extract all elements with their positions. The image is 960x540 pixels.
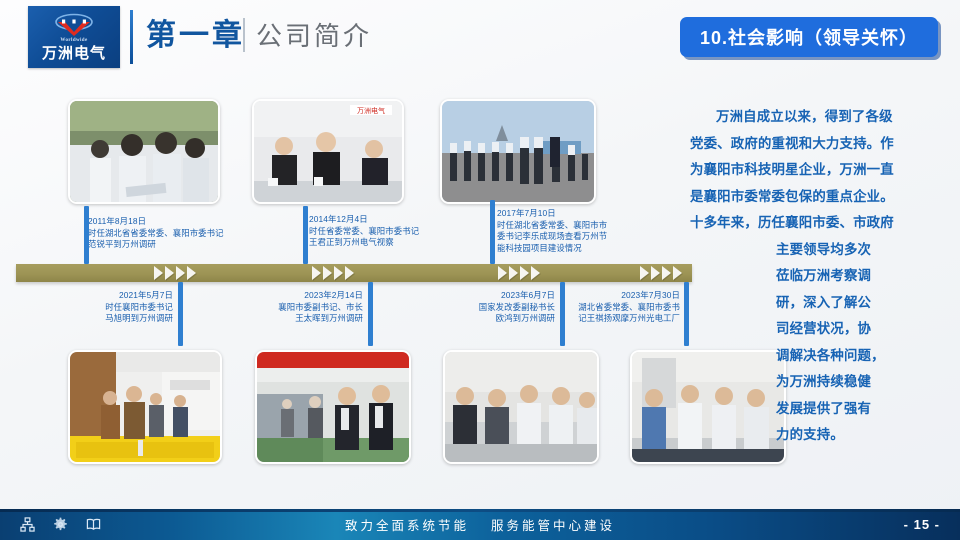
paragraph-line-11: 为万洲持续稳健	[690, 369, 952, 396]
gear-icon[interactable]	[53, 517, 68, 532]
chevron-right-icon	[323, 266, 332, 280]
timeline-stem-top-3	[490, 200, 495, 264]
chevron-right-icon	[187, 266, 196, 280]
chevron-right-icon	[673, 266, 682, 280]
chevron-right-icon	[165, 266, 174, 280]
timeline-stem-top-2	[303, 206, 308, 264]
timeline-bar	[16, 264, 692, 282]
chevron-right-icon	[509, 266, 518, 280]
event-photo-2014-12-04: 万洲电气	[252, 99, 404, 204]
timeline-stem-top-1	[84, 206, 89, 264]
caption-date: 2023年2月14日	[230, 290, 363, 302]
event-photo-2023-06-07	[443, 350, 599, 464]
caption-line2: 时任湖北省委常委、襄阳市市	[497, 220, 647, 232]
chevron-group	[154, 266, 200, 280]
timeline-stem-bottom-4	[684, 282, 689, 346]
paragraph-line-5: 十多年来，历任襄阳市委、市政府	[690, 210, 952, 237]
caption-date: 2014年12月4日	[309, 214, 499, 226]
timeline-stem-bottom-1	[178, 282, 183, 346]
description-paragraph: 万洲自成立以来，得到了各级 党委、政府的重视和大力支持。作 为襄阳市科技明星企业…	[690, 104, 952, 449]
footer-slogan-left: 致力全面系统节能	[345, 515, 469, 534]
caption-line3: 记王祺扬观摩万州光电工厂	[560, 313, 680, 325]
caption-line3: 委书记李乐成现场查看万州节	[497, 231, 647, 243]
event-photo-2023-02-14	[255, 350, 411, 464]
paragraph-line-9: 司经营状况，协	[690, 316, 952, 343]
paragraph-line-7: 莅临万洲考察调	[690, 263, 952, 290]
paragraph-line-13: 力的支持。	[690, 422, 952, 449]
caption-line2: 国家发改委副秘书长	[422, 302, 555, 314]
caption-line2: 时任湖北省省委常委、襄阳市委书记	[88, 228, 288, 240]
chevron-group	[498, 266, 544, 280]
chevron-group	[640, 266, 686, 280]
paragraph-line-6: 主要领导均多次	[690, 237, 952, 264]
page-number: - 15 -	[904, 509, 940, 540]
paragraph-line-10: 调解决各种问题，	[690, 343, 952, 370]
slide-canvas: Worldwide 万洲电气 第一章 公司简介 10.社会影响（领导关怀）	[0, 0, 960, 540]
event-caption-2023-02-14: 2023年2月14日 襄阳市委副书记、市长 王太晖到万州调研	[230, 290, 363, 325]
chapter-label: 第一章	[146, 16, 245, 56]
event-caption-2023-07-30: 2023年7月30日 湖北省委常委、襄阳市委书 记王祺扬观摩万州光电工厂	[560, 290, 680, 325]
chevron-right-icon	[640, 266, 649, 280]
caption-line4: 能科技园项目建设情况	[497, 243, 647, 255]
chevron-right-icon	[498, 266, 507, 280]
caption-line2: 时任省委常委、襄阳市委书记	[309, 226, 499, 238]
chevron-right-icon	[531, 266, 540, 280]
caption-line3: 王太晖到万州调研	[230, 313, 363, 325]
event-caption-2023-06-07: 2023年6月7日 国家发改委副秘书长 欧鸿到万州调研	[422, 290, 555, 325]
section-title-badge: 10.社会影响（领导关怀）	[680, 17, 938, 57]
chevron-right-icon	[154, 266, 163, 280]
section-title-text: 10.社会影响（领导关怀）	[700, 24, 918, 50]
event-photo-2017-07-10	[440, 99, 596, 204]
worldwide-w-logo-icon	[52, 13, 96, 37]
chevron-right-icon	[520, 266, 529, 280]
chevron-right-icon	[312, 266, 321, 280]
event-photo-2011-08-18	[68, 99, 220, 204]
caption-line2: 时任襄阳市委书记	[38, 302, 173, 314]
chevron-right-icon	[662, 266, 671, 280]
caption-date: 2011年8月18日	[88, 216, 288, 228]
header-accent-bar	[130, 10, 133, 64]
timeline-stem-bottom-2	[368, 282, 373, 346]
paragraph-line-12: 发展提供了强有	[690, 396, 952, 423]
footer-slogan-right: 服务能管中心建设	[491, 515, 615, 534]
event-caption-2014-12-04: 2014年12月4日 时任省委常委、襄阳市委书记 王君正到万州电气视察	[309, 214, 499, 249]
caption-date: 2023年6月7日	[422, 290, 555, 302]
logo-sub-text: Worldwide	[60, 38, 87, 44]
footer-slogan: 致力全面系统节能 服务能管中心建设	[0, 509, 960, 540]
caption-line2: 襄阳市委副书记、市长	[230, 302, 363, 314]
chevron-right-icon	[176, 266, 185, 280]
event-caption-2021-05-07: 2021年5月7日 时任襄阳市委书记 马旭明到万州调研	[38, 290, 173, 325]
chevron-right-icon	[345, 266, 354, 280]
chapter-subtitle: 公司简介	[256, 18, 372, 54]
event-caption-2017-07-10: 2017年7月10日 时任湖北省委常委、襄阳市市 委书记李乐成现场查看万州节 能…	[497, 208, 647, 254]
logo-company-name: 万洲电气	[42, 45, 106, 62]
footer-icon-group	[20, 509, 101, 540]
paragraph-line-2: 党委、政府的重视和大力支持。作	[690, 131, 952, 158]
chevron-group	[312, 266, 358, 280]
header-separator	[243, 18, 245, 52]
caption-line3: 欧鸿到万州调研	[422, 313, 555, 325]
paragraph-line-1: 万洲自成立以来，得到了各级	[690, 104, 952, 131]
slide-header: Worldwide 万洲电气 第一章 公司简介 10.社会影响（领导关怀）	[0, 0, 960, 76]
caption-line3: 范锐平到万州调研	[88, 239, 288, 251]
event-caption-2011-08-18: 2011年8月18日 时任湖北省省委常委、襄阳市委书记 范锐平到万州调研	[88, 216, 288, 251]
caption-date: 2023年7月30日	[560, 290, 680, 302]
caption-date: 2017年7月10日	[497, 208, 647, 220]
caption-date: 2021年5月7日	[38, 290, 173, 302]
event-photo-2021-05-07	[68, 350, 222, 464]
paragraph-line-8: 研，深入了解公	[690, 290, 952, 317]
svg-text:万洲电气: 万洲电气	[357, 106, 385, 115]
paragraph-line-3: 为襄阳市科技明星企业，万洲一直	[690, 157, 952, 184]
caption-line2: 湖北省委常委、襄阳市委书	[560, 302, 680, 314]
chevron-right-icon	[334, 266, 343, 280]
slide-footer: 致力全面系统节能 服务能管中心建设 - 15 -	[0, 509, 960, 540]
sitemap-icon[interactable]	[20, 517, 35, 532]
company-logo: Worldwide 万洲电气	[28, 6, 120, 68]
caption-line3: 王君正到万州电气视察	[309, 237, 499, 249]
caption-line3: 马旭明到万州调研	[38, 313, 173, 325]
paragraph-line-4: 是襄阳市委常委包保的重点企业。	[690, 184, 952, 211]
chevron-right-icon	[651, 266, 660, 280]
book-icon[interactable]	[86, 517, 101, 532]
